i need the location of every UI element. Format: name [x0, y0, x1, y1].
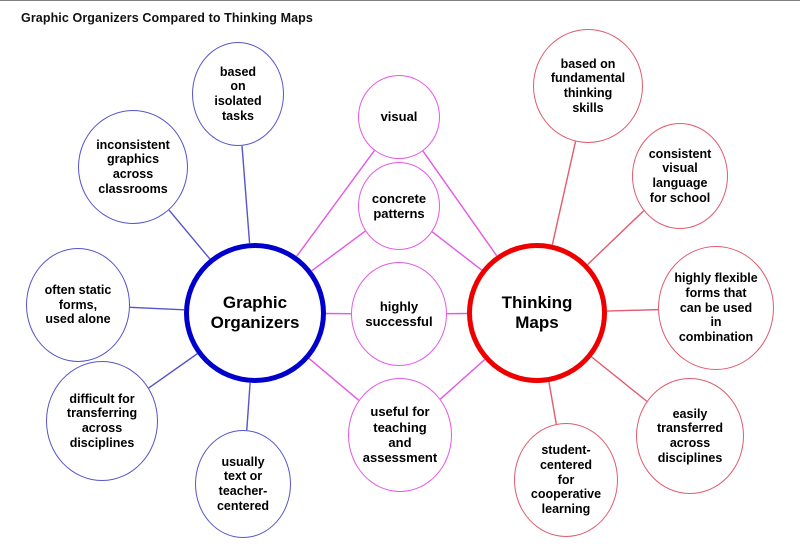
edge-tm-flexible	[607, 310, 658, 311]
edge-go-inconsistent	[169, 210, 210, 259]
node-easily-transferred-disciplines[interactable]: easily transferred across disciplines	[636, 378, 744, 494]
node-highly-successful[interactable]: highly successful	[351, 262, 447, 366]
node-based-fundamental-thinking-skills[interactable]: based on fundamental thinking skills	[533, 29, 643, 143]
edge-go-useful	[309, 358, 359, 400]
node-label: often static forms, used alone	[41, 283, 116, 327]
node-label: highly flexible forms that can be used i…	[670, 271, 761, 345]
node-label: concrete patterns	[368, 191, 430, 222]
node-label: based on isolated tasks	[210, 65, 265, 124]
edge-go-concrete	[312, 231, 366, 271]
edge-go-usually	[247, 383, 250, 430]
edge-go-isolated	[242, 146, 250, 243]
node-student-centered-cooperative[interactable]: student- centered for cooperative learni…	[514, 423, 618, 537]
node-inconsistent-graphics[interactable]: inconsistent graphics across classrooms	[78, 110, 188, 224]
edge-tm-fundamental	[552, 142, 575, 245]
node-label: consistent visual language for school	[645, 147, 716, 206]
node-highly-flexible-forms[interactable]: highly flexible forms that can be used i…	[658, 246, 774, 370]
edge-tm-useful	[440, 360, 484, 400]
node-label: visual	[377, 109, 422, 124]
node-label: Thinking Maps	[498, 293, 577, 333]
edge-tm-student	[549, 382, 556, 424]
node-graphic-organizers[interactable]: Graphic Organizers	[184, 243, 326, 383]
node-often-static-forms[interactable]: often static forms, used alone	[26, 248, 130, 362]
node-useful-teaching-assessment[interactable]: useful for teaching and assessment	[348, 378, 452, 492]
edge-tm-consistent	[588, 211, 644, 265]
node-concrete-patterns[interactable]: concrete patterns	[358, 162, 440, 250]
node-based-on-isolated-tasks[interactable]: based on isolated tasks	[192, 42, 284, 146]
edge-tm-easily	[592, 357, 647, 401]
node-label: inconsistent graphics across classrooms	[92, 138, 174, 197]
node-label: easily transferred across disciplines	[653, 407, 727, 466]
node-thinking-maps[interactable]: Thinking Maps	[467, 243, 607, 383]
node-label: Graphic Organizers	[207, 293, 304, 333]
node-label: difficult for transferring across discip…	[63, 392, 141, 451]
node-difficult-transferring-disciplines[interactable]: difficult for transferring across discip…	[46, 361, 158, 481]
edge-tm-concrete	[432, 232, 481, 270]
edge-go-static	[130, 307, 184, 309]
node-label: highly successful	[361, 299, 436, 330]
edge-go-difficult	[149, 354, 198, 388]
node-label: useful for teaching and assessment	[359, 404, 441, 465]
node-label: based on fundamental thinking skills	[547, 57, 629, 116]
node-visual[interactable]: visual	[358, 75, 440, 159]
node-usually-text-teacher-centered[interactable]: usually text or teacher- centered	[195, 430, 291, 538]
diagram-canvas: Graphic Organizers Compared to Thinking …	[0, 0, 800, 560]
node-label: usually text or teacher- centered	[213, 455, 273, 514]
node-label: student- centered for cooperative learni…	[527, 443, 605, 517]
node-consistent-visual-language[interactable]: consistent visual language for school	[632, 123, 728, 229]
